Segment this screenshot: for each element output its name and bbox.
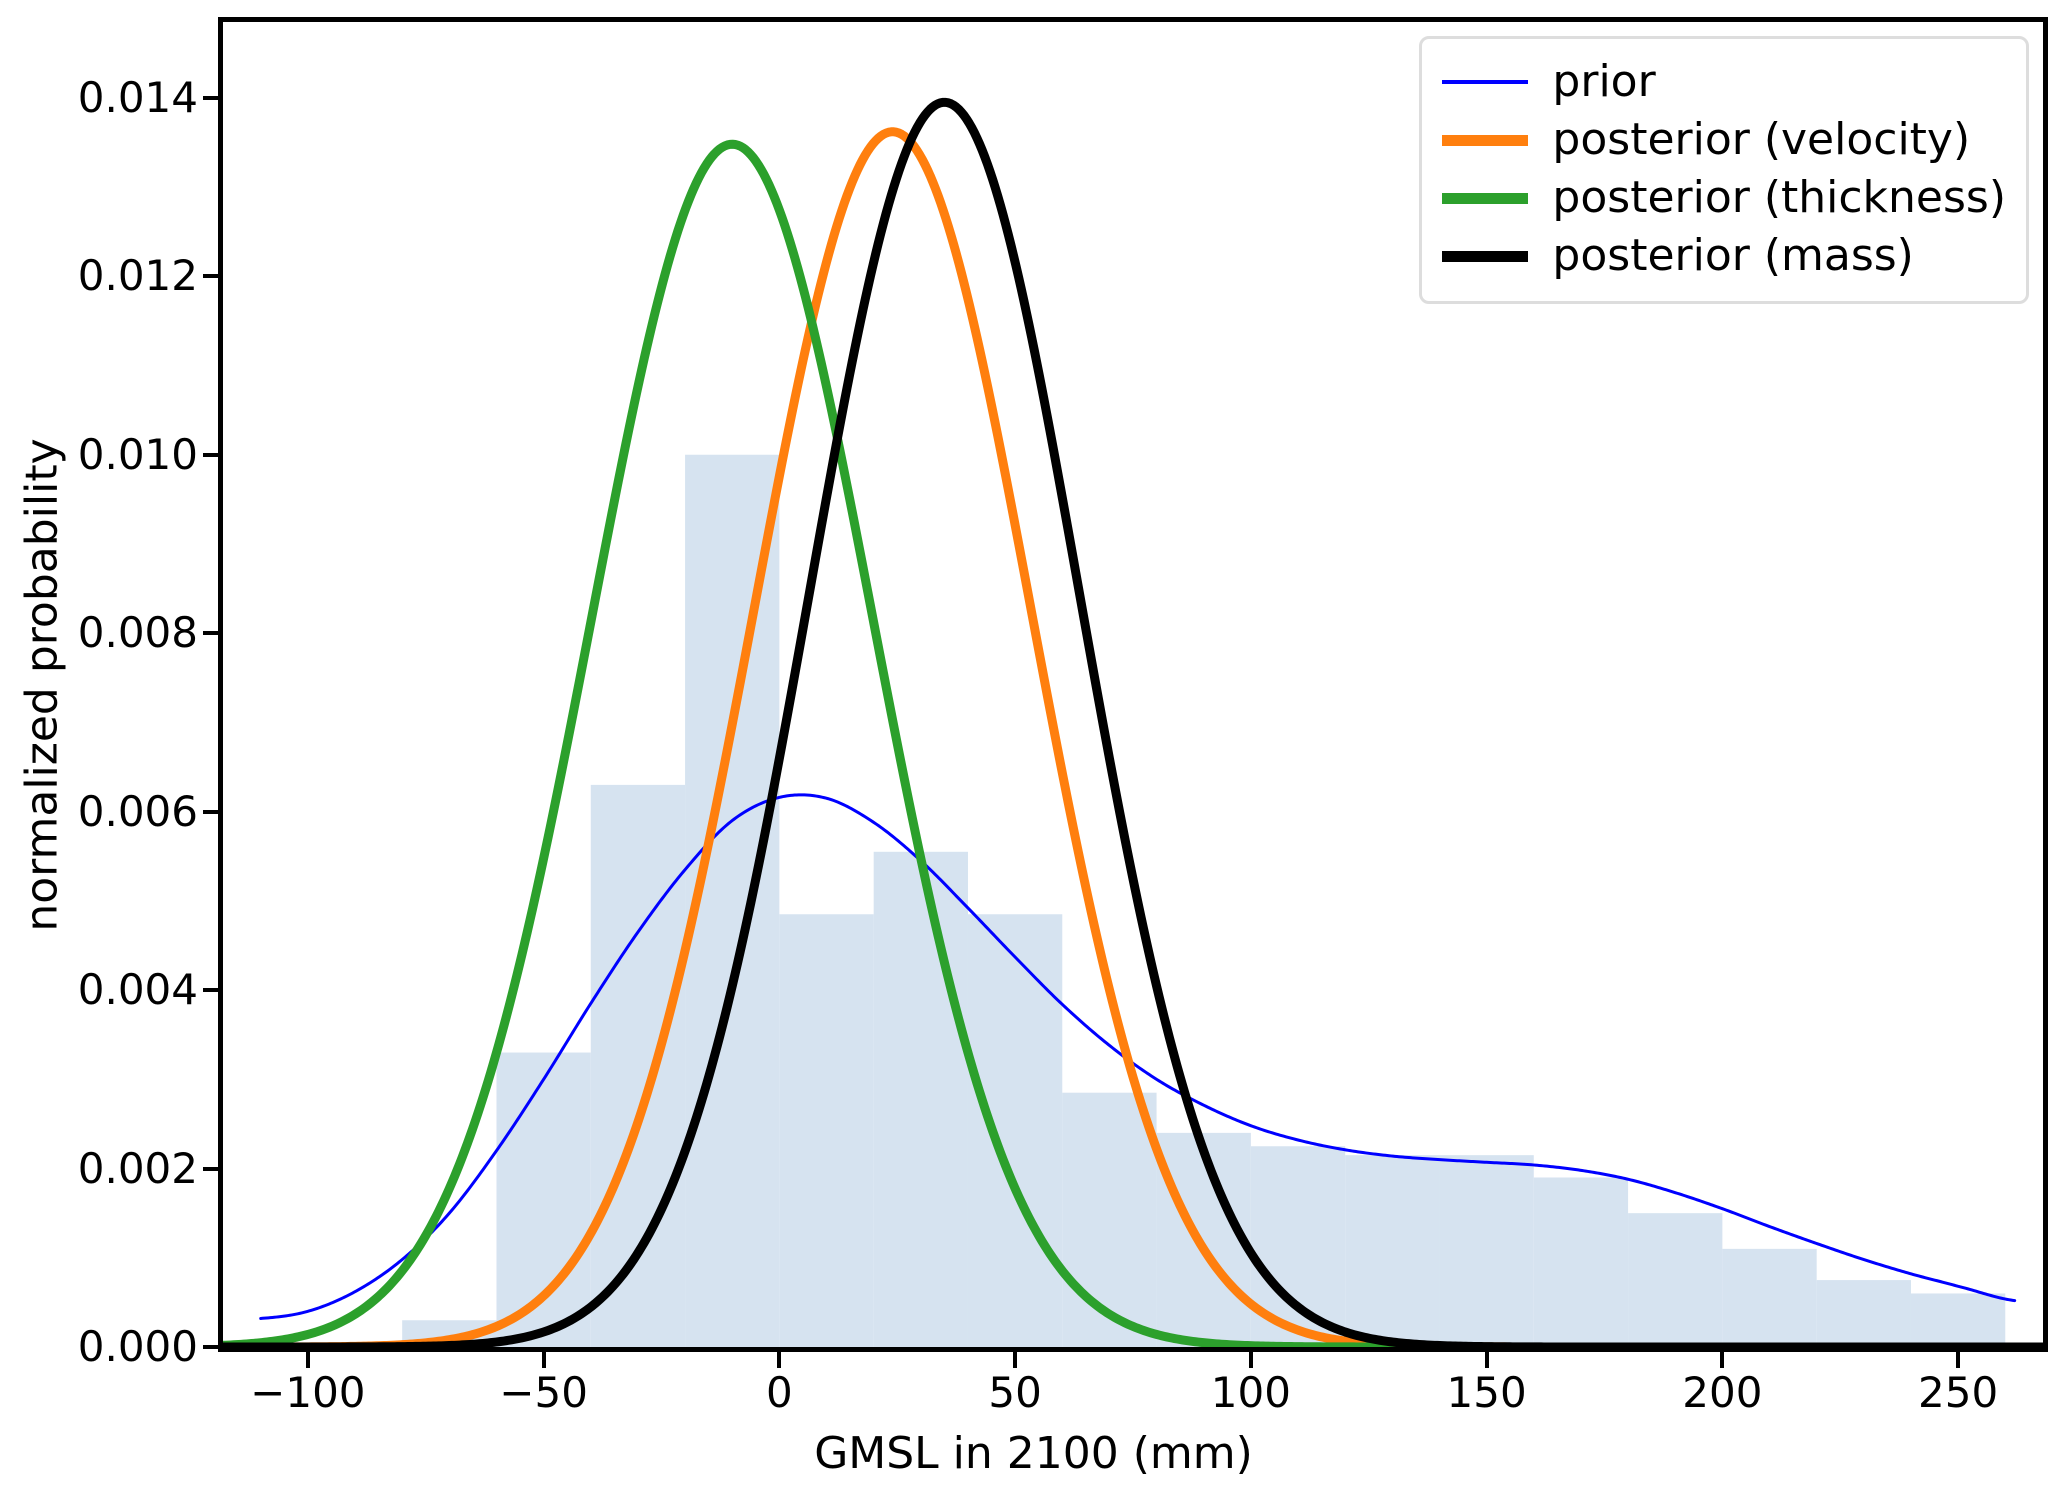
legend-label: posterior (thickness) (1552, 176, 2006, 220)
plot-area: priorposterior (velocity)posterior (thic… (218, 17, 2048, 1352)
x-tick-mark (542, 1352, 546, 1368)
y-tick-label: 0.000 (28, 1326, 198, 1368)
legend-item[interactable]: posterior (velocity) (1442, 111, 2006, 169)
histogram-bar (779, 914, 873, 1347)
legend-color-swatch (1442, 193, 1528, 204)
histogram-bar (1345, 1155, 1439, 1347)
histogram-bar (1439, 1155, 1533, 1347)
histogram-bar (1722, 1249, 1816, 1347)
y-tick-mark (203, 1345, 219, 1349)
legend-item[interactable]: prior (1442, 53, 2006, 111)
y-tick-label: 0.012 (28, 255, 198, 297)
x-tick-mark (306, 1352, 310, 1368)
y-tick-label: 0.002 (28, 1148, 198, 1190)
x-tick-label: 250 (1858, 1372, 2058, 1414)
figure-canvas: normalized probability 0.0000.0020.0040.… (0, 0, 2067, 1494)
x-tick-mark (1485, 1352, 1489, 1368)
y-tick-mark (203, 274, 219, 278)
y-tick-mark (203, 631, 219, 635)
legend-label: prior (1552, 60, 1655, 104)
y-axis-label: normalized probability (17, 438, 68, 931)
x-tick-label: −100 (208, 1372, 408, 1414)
y-tick-label: 0.004 (28, 969, 198, 1011)
x-tick-mark (1956, 1352, 1960, 1368)
legend-color-swatch (1442, 135, 1528, 146)
histogram-bar (1911, 1293, 2005, 1347)
histogram-bar (591, 785, 685, 1347)
histogram-bar (496, 1053, 590, 1347)
x-tick-mark (1013, 1352, 1017, 1368)
x-tick-label: 0 (679, 1372, 879, 1414)
x-tick-label: −50 (444, 1372, 644, 1414)
histogram-bar (968, 914, 1062, 1347)
legend-color-swatch (1442, 251, 1528, 262)
histogram-bar (1062, 1093, 1156, 1347)
histogram-bar (1817, 1280, 1911, 1347)
histogram-bars (402, 455, 2005, 1347)
x-tick-mark (1249, 1352, 1253, 1368)
histogram-bar (1534, 1177, 1628, 1347)
legend-item[interactable]: posterior (mass) (1442, 227, 2006, 285)
x-tick-mark (777, 1352, 781, 1368)
histogram-bar (1157, 1133, 1251, 1347)
legend-color-swatch (1442, 80, 1528, 84)
x-axis-label: GMSL in 2100 (mm) (0, 1428, 2067, 1479)
y-tick-label: 0.010 (28, 434, 198, 476)
y-tick-label: 0.008 (28, 612, 198, 654)
histogram-bar (874, 852, 968, 1347)
y-tick-label: 0.014 (28, 77, 198, 119)
y-tick-mark (203, 453, 219, 457)
x-tick-label: 150 (1387, 1372, 1587, 1414)
y-tick-mark (203, 96, 219, 100)
x-tick-label: 50 (915, 1372, 1115, 1414)
x-tick-label: 100 (1151, 1372, 1351, 1414)
y-tick-label: 0.006 (28, 791, 198, 833)
histogram-bar (1628, 1213, 1722, 1347)
y-tick-mark (203, 988, 219, 992)
chart-legend[interactable]: priorposterior (velocity)posterior (thic… (1419, 36, 2029, 304)
legend-label: posterior (velocity) (1552, 118, 1970, 162)
legend-item[interactable]: posterior (thickness) (1442, 169, 2006, 227)
y-tick-mark (203, 810, 219, 814)
x-tick-label: 200 (1622, 1372, 1822, 1414)
legend-label: posterior (mass) (1552, 234, 1913, 278)
y-tick-mark (203, 1167, 219, 1171)
x-tick-mark (1720, 1352, 1724, 1368)
